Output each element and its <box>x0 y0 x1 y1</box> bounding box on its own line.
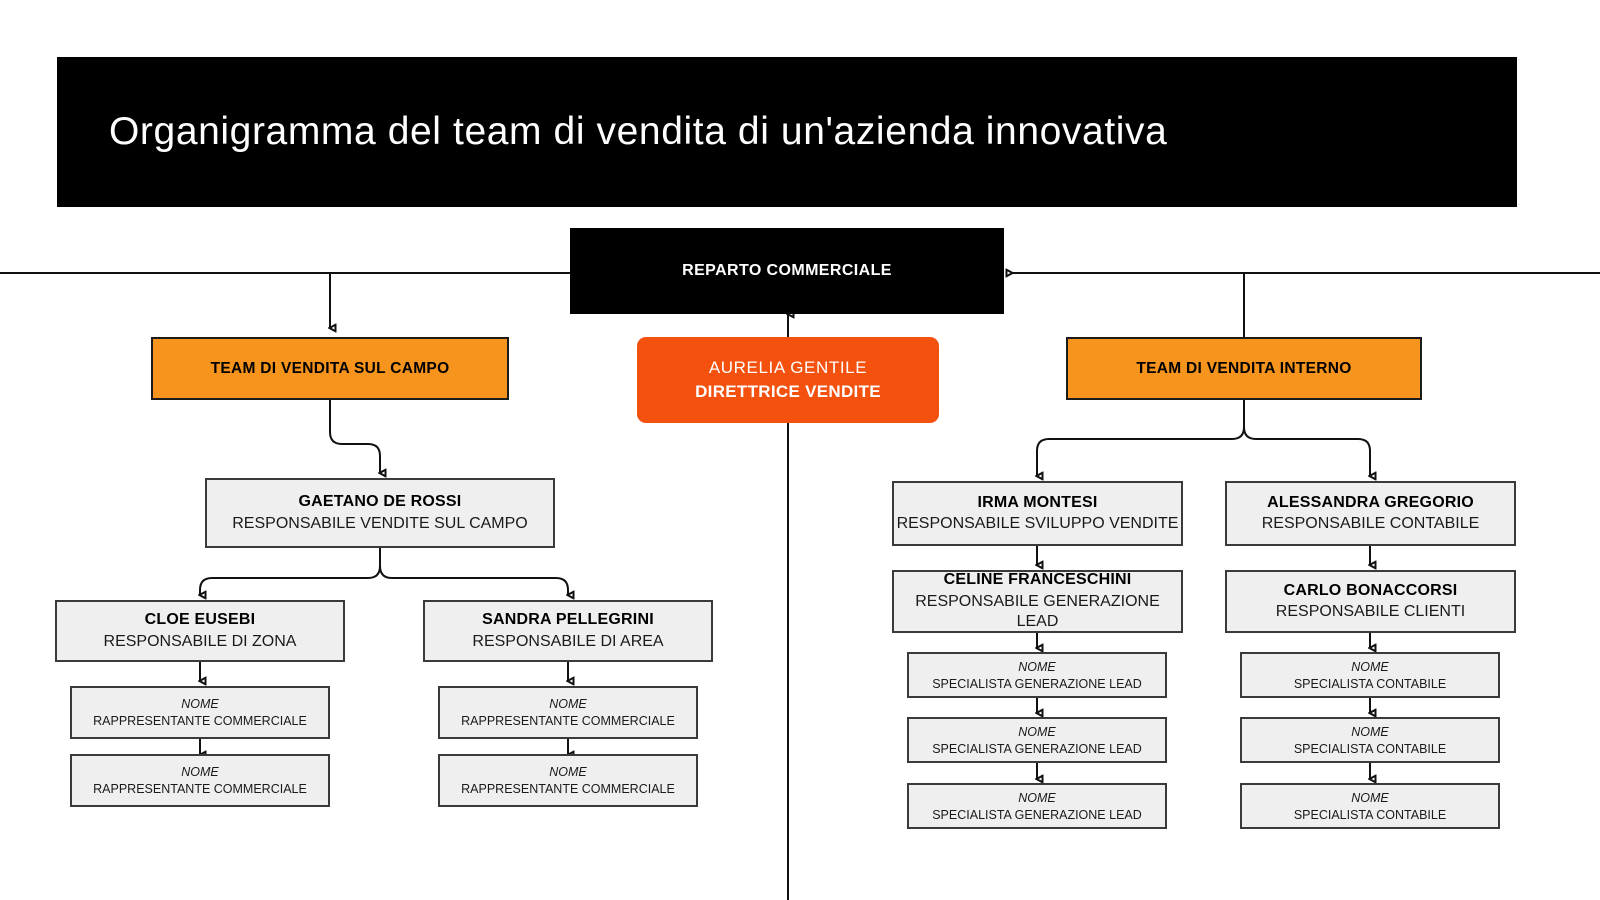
node-slot-role: RAPPRESENTANTE COMMERCIALE <box>93 781 307 797</box>
node-slot-name: NOME <box>1018 790 1056 806</box>
node-slot-role: SPECIALISTA CONTABILE <box>1294 741 1446 757</box>
node-gaetano-de-rossi[interactable]: GAETANO DE ROSSI RESPONSABILE VENDITE SU… <box>205 478 555 548</box>
wire-inside-group-to-col2 <box>1244 400 1370 476</box>
node-slot-name: NOME <box>1018 724 1056 740</box>
node-slot-name: NOME <box>1018 659 1056 675</box>
node-celine-franceschini[interactable]: CELINE FRANCESCHINI RESPONSABILE GENERAZ… <box>892 570 1183 633</box>
node-slot-name: NOME <box>1351 724 1389 740</box>
node-cloe-eusebi[interactable]: CLOE EUSEBI RESPONSABILE DI ZONA <box>55 600 345 662</box>
node-slot-accounting-specialist-3[interactable]: NOME SPECIALISTA CONTABILE <box>1240 783 1500 829</box>
node-slot-role: RAPPRESENTANTE COMMERCIALE <box>461 713 675 729</box>
node-slot-role: SPECIALISTA CONTABILE <box>1294 676 1446 692</box>
node-slot-name: NOME <box>181 764 219 780</box>
node-slot-role: SPECIALISTA GENERAZIONE LEAD <box>932 676 1142 692</box>
node-reparto-commerciale[interactable]: REPARTO COMMERCIALE <box>570 228 1004 314</box>
node-slot-role: RAPPRESENTANTE COMMERCIALE <box>461 781 675 797</box>
node-person-name: CLOE EUSEBI <box>145 610 256 630</box>
node-slot-zone-staff-2[interactable]: NOME RAPPRESENTANTE COMMERCIALE <box>70 754 330 807</box>
wire-inside-group-to-col1 <box>1037 400 1244 476</box>
node-person-role: RESPONSABILE GENERAZIONE LEAD <box>894 592 1181 633</box>
node-group-team-vendita-sul-campo[interactable]: TEAM DI VENDITA SUL CAMPO <box>151 337 509 400</box>
node-slot-accounting-specialist-1[interactable]: NOME SPECIALISTA CONTABILE <box>1240 652 1500 698</box>
node-slot-zone-staff-1[interactable]: NOME RAPPRESENTANTE COMMERCIALE <box>70 686 330 739</box>
node-person-name: AURELIA GENTILE <box>709 357 867 379</box>
node-title: TEAM DI VENDITA SUL CAMPO <box>211 359 450 379</box>
node-person-role: RESPONSABILE DI AREA <box>472 632 663 652</box>
node-slot-name: NOME <box>1351 790 1389 806</box>
node-slot-name: NOME <box>549 696 587 712</box>
node-slot-area-staff-2[interactable]: NOME RAPPRESENTANTE COMMERCIALE <box>438 754 698 807</box>
node-slot-area-staff-1[interactable]: NOME RAPPRESENTANTE COMMERCIALE <box>438 686 698 739</box>
node-director-aurelia-gentile[interactable]: AURELIA GENTILE DIRETTRICE VENDITE <box>637 337 939 423</box>
node-person-role: DIRETTRICE VENDITE <box>695 381 881 403</box>
node-slot-name: NOME <box>549 764 587 780</box>
node-slot-lead-specialist-1[interactable]: NOME SPECIALISTA GENERAZIONE LEAD <box>907 652 1167 698</box>
node-title: REPARTO COMMERCIALE <box>682 261 892 281</box>
node-person-role: RESPONSABILE VENDITE SUL CAMPO <box>232 514 527 534</box>
org-chart-canvas: Organigramma del team di vendita di un'a… <box>0 0 1600 900</box>
node-slot-role: SPECIALISTA GENERAZIONE LEAD <box>932 807 1142 823</box>
wire-head-to-zone <box>200 548 380 595</box>
wire-head-to-area <box>380 548 568 595</box>
node-slot-lead-specialist-2[interactable]: NOME SPECIALISTA GENERAZIONE LEAD <box>907 717 1167 763</box>
page-title: Organigramma del team di vendita di un'a… <box>109 111 1167 154</box>
node-sandra-pellegrini[interactable]: SANDRA PELLEGRINI RESPONSABILE DI AREA <box>423 600 713 662</box>
node-person-role: RESPONSABILE CONTABILE <box>1262 514 1480 534</box>
node-slot-accounting-specialist-2[interactable]: NOME SPECIALISTA CONTABILE <box>1240 717 1500 763</box>
node-person-name: CELINE FRANCESCHINI <box>944 570 1132 590</box>
node-person-name: SANDRA PELLEGRINI <box>482 610 654 630</box>
node-person-name: GAETANO DE ROSSI <box>299 492 462 512</box>
wire-field-group-to-head <box>330 400 380 473</box>
node-slot-lead-specialist-3[interactable]: NOME SPECIALISTA GENERAZIONE LEAD <box>907 783 1167 829</box>
node-person-name: IRMA MONTESI <box>977 493 1097 513</box>
node-group-team-vendita-interno[interactable]: TEAM DI VENDITA INTERNO <box>1066 337 1422 400</box>
title-banner: Organigramma del team di vendita di un'a… <box>57 57 1517 207</box>
node-person-name: CARLO BONACCORSI <box>1284 581 1458 601</box>
node-carlo-bonaccorsi[interactable]: CARLO BONACCORSI RESPONSABILE CLIENTI <box>1225 570 1516 633</box>
node-slot-role: SPECIALISTA CONTABILE <box>1294 807 1446 823</box>
node-slot-name: NOME <box>1351 659 1389 675</box>
node-person-role: RESPONSABILE SVILUPPO VENDITE <box>897 514 1179 534</box>
node-slot-name: NOME <box>181 696 219 712</box>
node-title: TEAM DI VENDITA INTERNO <box>1136 359 1351 379</box>
node-person-role: RESPONSABILE CLIENTI <box>1276 602 1465 622</box>
node-person-role: RESPONSABILE DI ZONA <box>104 632 297 652</box>
node-alessandra-gregorio[interactable]: ALESSANDRA GREGORIO RESPONSABILE CONTABI… <box>1225 481 1516 546</box>
node-irma-montesi[interactable]: IRMA MONTESI RESPONSABILE SVILUPPO VENDI… <box>892 481 1183 546</box>
node-slot-role: RAPPRESENTANTE COMMERCIALE <box>93 713 307 729</box>
node-person-name: ALESSANDRA GREGORIO <box>1267 493 1474 513</box>
node-slot-role: SPECIALISTA GENERAZIONE LEAD <box>932 741 1142 757</box>
